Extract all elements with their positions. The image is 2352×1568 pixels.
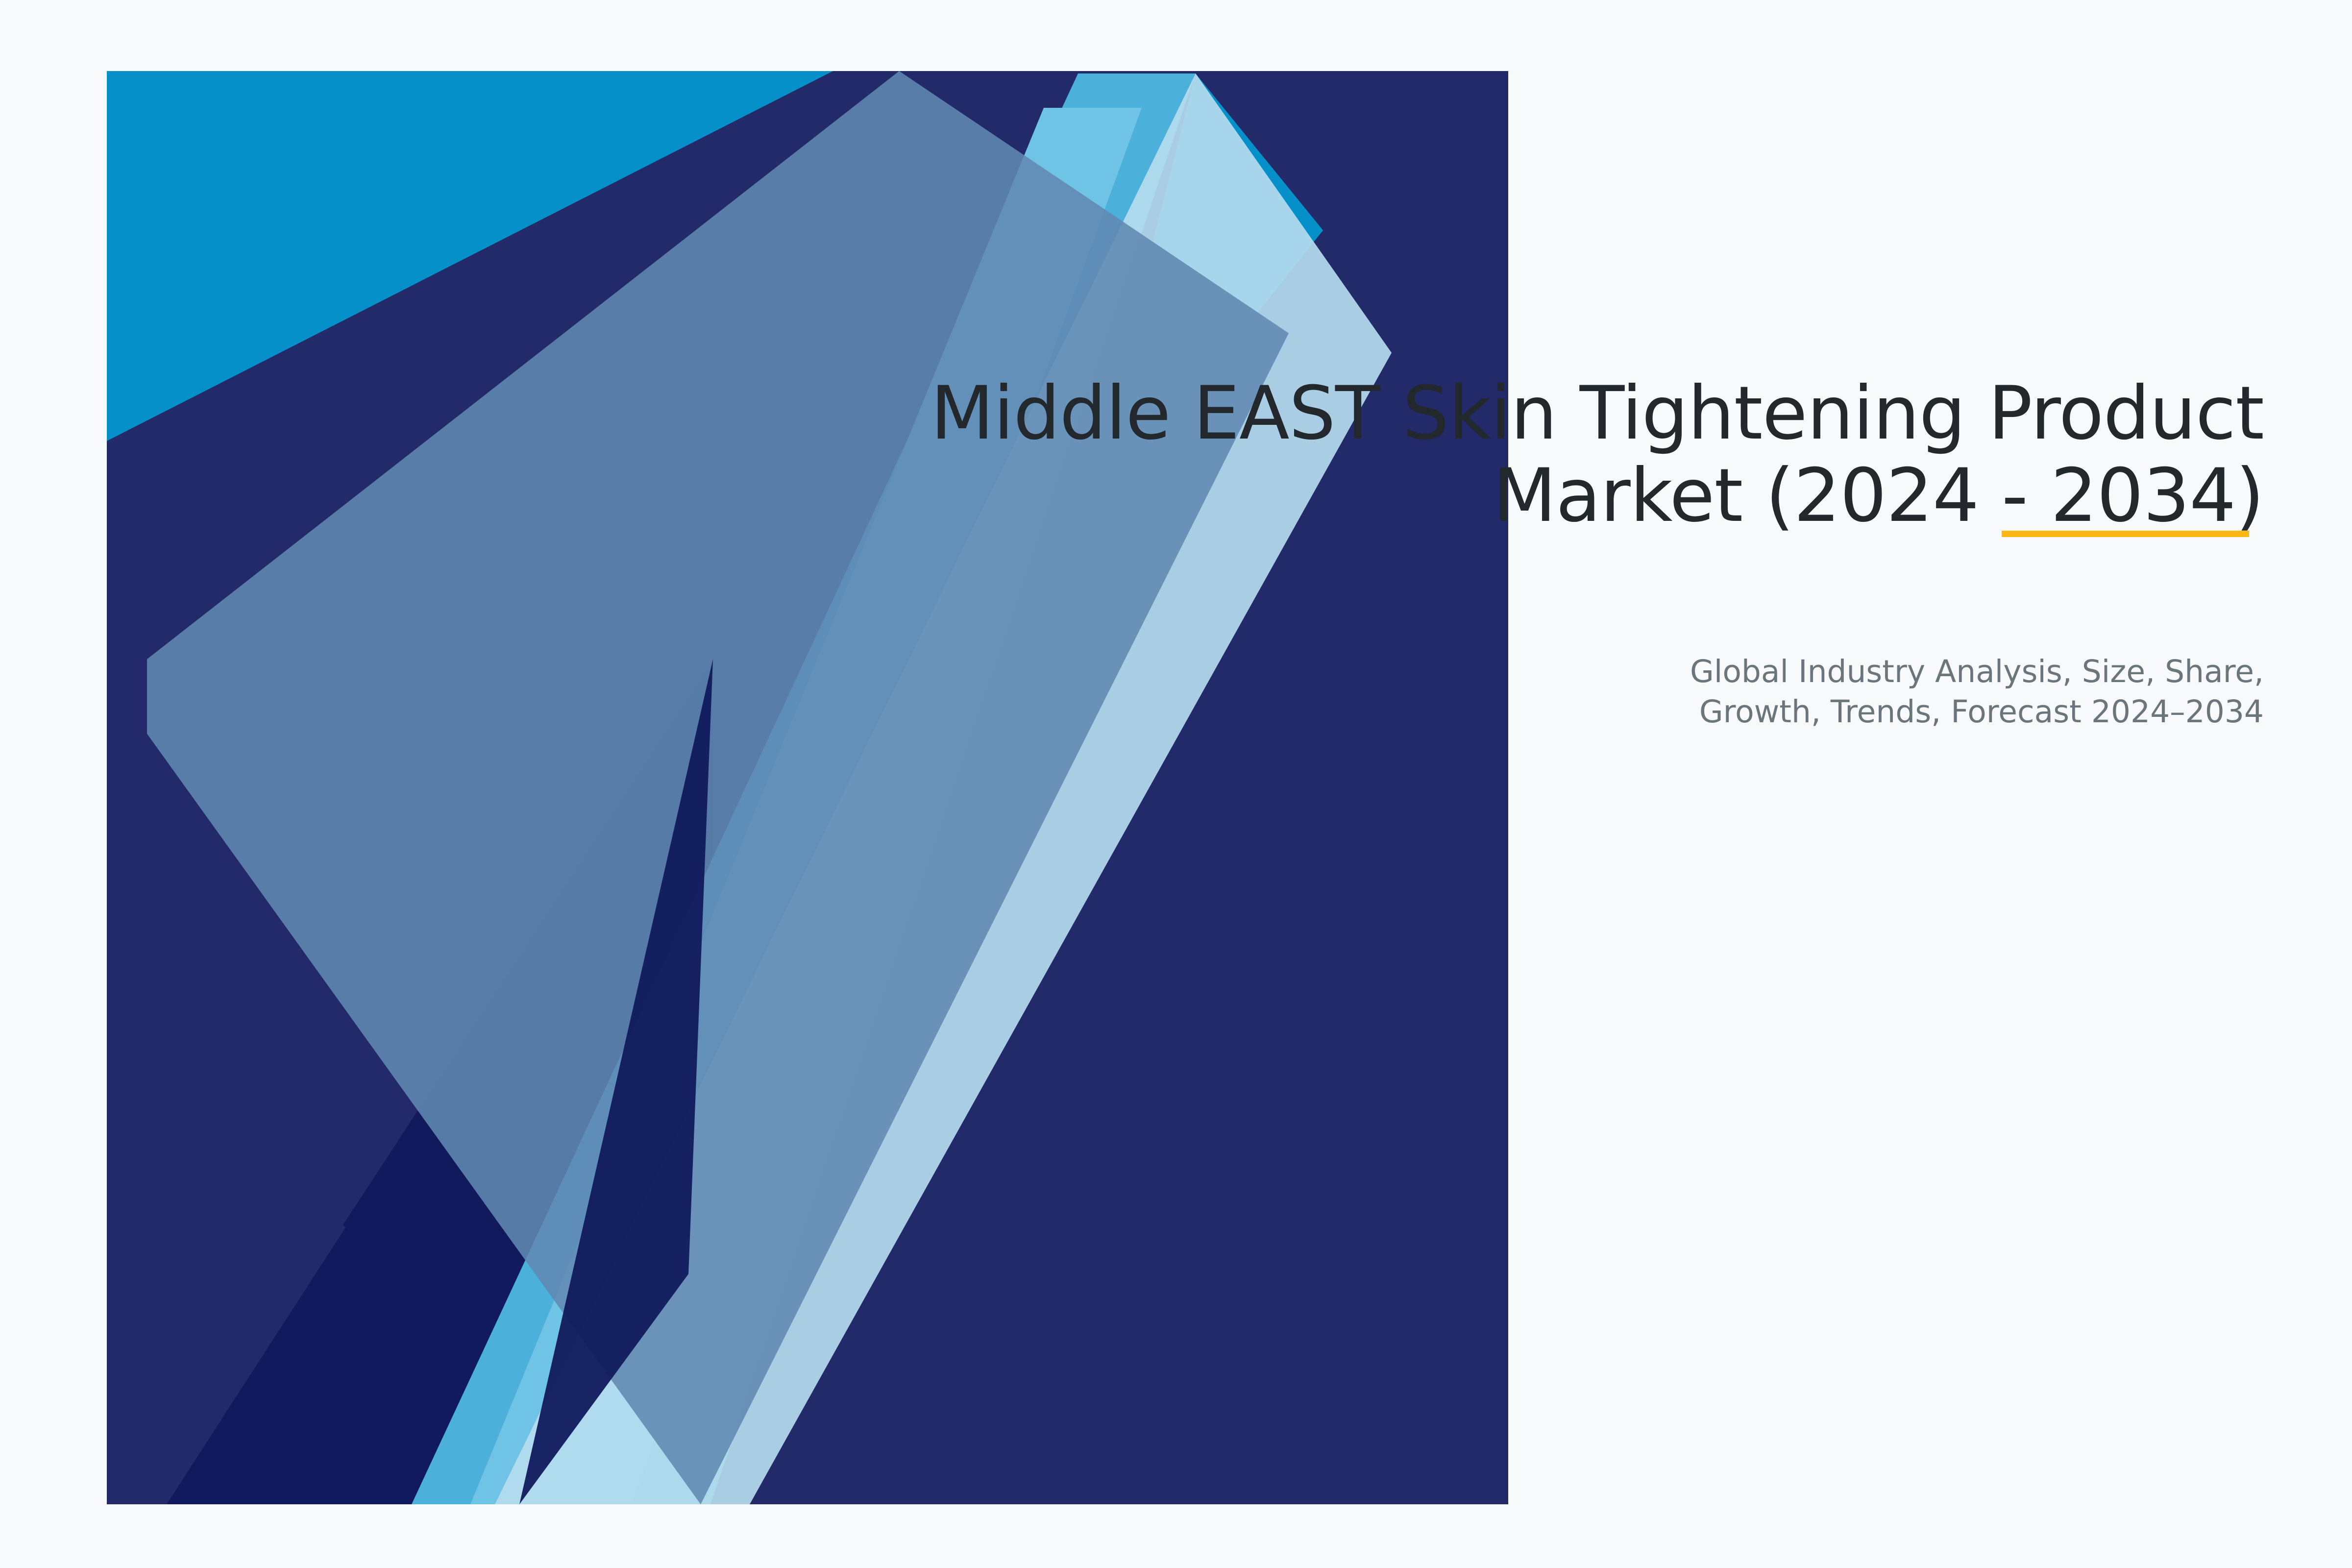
report-cover-page: Middle EAST Skin Tightening Product Mark… bbox=[0, 0, 2352, 1568]
title-block: Middle EAST Skin Tightening Product Mark… bbox=[759, 372, 2264, 537]
page-subtitle: Global Industry Analysis, Size, Share, G… bbox=[1274, 652, 2264, 732]
cover-artwork bbox=[0, 0, 2352, 1568]
shape-navy-left-column bbox=[107, 612, 147, 1504]
title-accent-rule bbox=[2002, 531, 2249, 537]
page-title: Middle EAST Skin Tightening Product Mark… bbox=[759, 372, 2264, 537]
